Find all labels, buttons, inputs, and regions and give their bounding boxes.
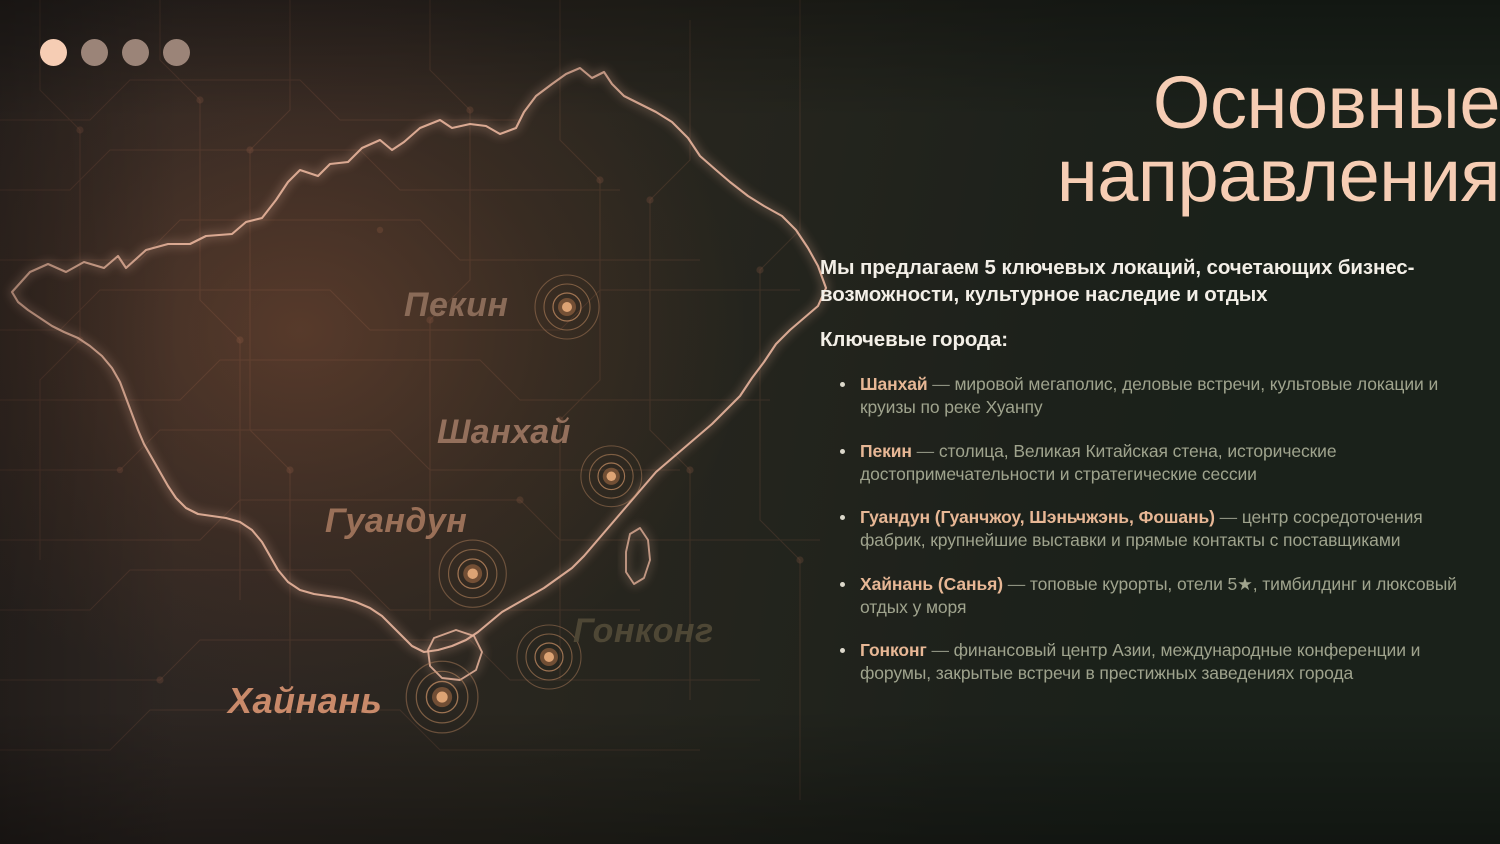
map-label-Гуандун: Гуандун (325, 502, 467, 541)
page-title: Основные направления (818, 66, 1500, 213)
map-label-Пекин: Пекин (404, 286, 508, 325)
pagination-dot-1[interactable] (40, 39, 67, 66)
pagination-dot-2[interactable] (81, 39, 108, 66)
page-title-line-1: Основные (1153, 61, 1500, 144)
bullet-term: Пекин (860, 441, 912, 461)
bullet-term: Шанхай (860, 374, 928, 394)
bullet-term: Хайнань (Санья) (860, 574, 1003, 594)
key-cities-list: Шанхай — мировой мегаполис, деловые встр… (838, 373, 1486, 706)
map-label-Хайнань: Хайнань (228, 680, 382, 722)
list-item: Гонконг — финансовый центр Азии, междуна… (838, 639, 1486, 686)
map-marker-2[interactable] (437, 538, 508, 609)
list-item: Шанхай — мировой мегаполис, деловые встр… (838, 373, 1486, 420)
bullet-dash: — (1215, 507, 1242, 527)
intro-paragraph: Мы предлагаем 5 ключевых локаций, сочета… (820, 255, 1480, 308)
map-marker-0[interactable] (533, 273, 601, 341)
pagination-dots[interactable] (40, 39, 190, 66)
subheading: Ключевые города: (820, 328, 1008, 352)
map-label-Гонконг: Гонконг (573, 612, 714, 651)
bullet-dash: — (1003, 574, 1030, 594)
list-item: Пекин — столица, Великая Китайская стена… (838, 440, 1486, 487)
bullet-dash: — (928, 374, 955, 394)
bullet-term: Гуандун (Гуанчжоу, Шэньчжэнь, Фошань) (860, 507, 1215, 527)
list-item: Хайнань (Санья) — топовые курорты, отели… (838, 573, 1486, 620)
map-marker-4[interactable] (404, 659, 480, 735)
bullet-term: Гонконг (860, 640, 927, 660)
bullet-dash: — (912, 441, 939, 461)
pagination-dot-4[interactable] (163, 39, 190, 66)
list-item: Гуандун (Гуанчжоу, Шэньчжэнь, Фошань) — … (838, 506, 1486, 553)
content-panel: Основные направления Мы предлагаем 5 клю… (818, 0, 1500, 844)
map-marker-1[interactable] (579, 444, 644, 509)
pagination-dot-3[interactable] (122, 39, 149, 66)
page-title-line-2: направления (818, 139, 1500, 212)
bullet-dash: — (927, 640, 954, 660)
map-label-Шанхай: Шанхай (437, 413, 571, 452)
slide-root: ПекинШанхайГуандунГонконгХайнань Основны… (0, 0, 1500, 844)
